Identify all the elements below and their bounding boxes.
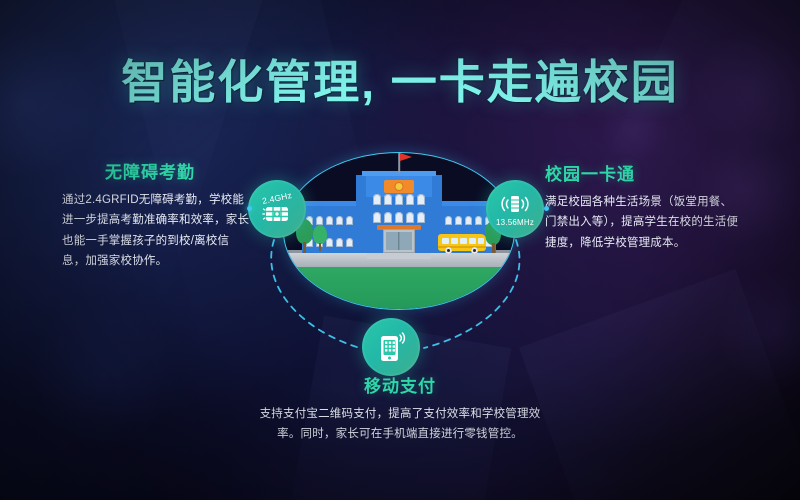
tree-icon [312,225,328,251]
clock-face-icon [395,182,404,191]
feature-body-campus-card: 满足校园各种生活场景（饭堂用餐、门禁出入等），提高学生在校的生活便捷度，降低学校… [545,192,740,253]
red-flag-icon [400,153,412,161]
poster-canvas: 智能化管理, 一卡走遍校园 [0,0,800,500]
page-title: 智能化管理, 一卡走遍校园 [0,46,800,112]
badge-nfc-1356mhz[interactable]: 13.56MHz [486,180,544,238]
badge-right-label: 13.56MHz [496,218,534,227]
badge-rfid-24ghz[interactable]: 2.4GHz [248,180,306,238]
bg-facet-4 [519,269,800,500]
window-row-mid [373,212,425,223]
feature-heading-mobile-payment: 移动支付 [250,372,550,397]
feature-block-mobile-payment: 移动支付 支持支付宝二维码支付，提高了支付效率和学校管理效率。同时，家长可在手机… [250,372,550,445]
bg-bokeh-5 [715,270,800,390]
feature-block-attendance: 无障碍考勤 通过2.4GRFID无障碍考勤，学校能进一步提高考勤准确率和效率，家… [62,158,250,272]
school-bus-icon [438,232,486,254]
feature-heading-attendance: 无障碍考勤 [62,158,250,183]
mobile-nfc-payment-icon [374,332,408,362]
school-campus-illustration [283,152,517,312]
window-row-upper [373,194,425,205]
badge-mobile-payment[interactable] [362,318,420,376]
entrance-door-split [398,232,399,250]
feature-block-campus-card: 校园一卡通 满足校园各种生活场景（饭堂用餐、门禁出入等），提高学生在校的生活便捷… [545,160,740,253]
rfid-chip-icon [262,203,292,225]
feature-body-attendance: 通过2.4GRFID无障碍考勤，学校能进一步提高考勤准确率和效率，家长也能一手掌… [62,190,250,272]
feature-body-mobile-payment: 支持支付宝二维码支付，提高了支付效率和学校管理效率。同时，家长可在手机端直接进行… [250,404,550,445]
bg-bokeh-6 [30,300,180,450]
feature-heading-campus-card: 校园一卡通 [545,160,740,185]
nfc-card-signal-icon [498,192,532,216]
lawn [284,263,514,309]
scene-circle [283,152,515,310]
building-left-cap [300,201,358,206]
